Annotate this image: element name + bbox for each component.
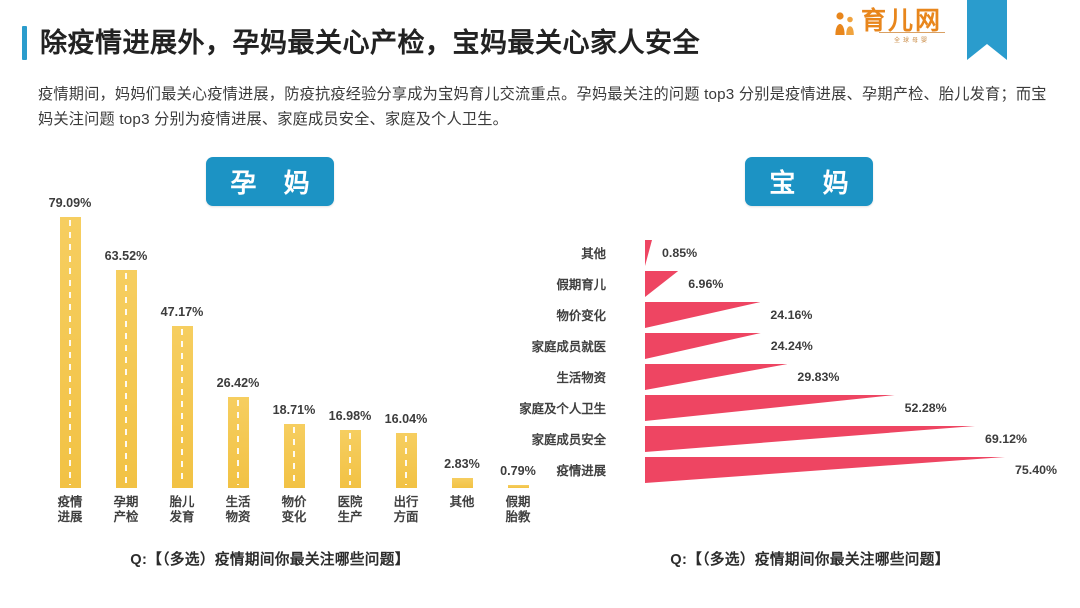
brand-logo: 育儿网 全球母婴	[833, 8, 951, 42]
badge-new-moms: 宝 妈	[745, 157, 873, 206]
column-bar	[116, 270, 137, 488]
column-group: 18.71%物价变化	[266, 424, 322, 488]
column-category-label: 出行方面	[394, 495, 419, 525]
column-value-label: 63.52%	[105, 249, 148, 263]
badge-pregnant-moms: 孕 妈	[206, 157, 334, 206]
column-dash-stripe	[125, 273, 127, 485]
funnel-row: 其他0.85%	[540, 240, 1080, 266]
column-category-label: 医院生产	[338, 495, 363, 525]
column-value-label: 79.09%	[49, 196, 92, 210]
funnel-value-label: 0.85%	[662, 246, 697, 260]
chart-caption-left: Q:【（多选）疫情期间你最关注哪些问题】	[0, 548, 540, 569]
column-category-label: 其他	[450, 495, 475, 510]
chart-caption-right: Q:【（多选）疫情期间你最关注哪些问题】	[540, 548, 1080, 569]
column-value-label: 0.79%	[500, 464, 536, 478]
column-group: 47.17%胎儿发育	[154, 326, 210, 488]
funnel-row: 家庭成员安全69.12%	[540, 426, 1080, 452]
funnel-value-label: 52.28%	[905, 401, 947, 415]
column-value-label: 16.98%	[329, 409, 372, 423]
funnel-category-label: 生活物资	[556, 368, 606, 386]
funnel-category-label: 假期育儿	[556, 275, 606, 293]
funnel-value-label: 6.96%	[688, 277, 723, 291]
ribbon-bookmark-icon	[967, 0, 1007, 60]
column-bar	[228, 397, 249, 488]
column-dash-stripe	[69, 220, 71, 485]
column-value-label: 18.71%	[273, 403, 316, 417]
funnel-row: 疫情进展75.40%	[540, 457, 1080, 483]
funnel-row: 物价变化24.16%	[540, 302, 1080, 328]
column-group: 16.98%医院生产	[322, 430, 378, 488]
column-group: 2.83%其他	[434, 478, 490, 488]
page-subtitle: 疫情期间，妈妈们最关心疫情进展，防疫抗疫经验分享成为宝妈育儿交流重点。孕妈最关注…	[38, 82, 1050, 132]
funnel-value-label: 29.83%	[797, 370, 839, 384]
title-row: 除疫情进展外，孕妈最关心产检，宝妈最关心家人安全	[22, 26, 700, 60]
column-category-label: 物价变化	[282, 495, 307, 525]
chart-new-moms-concerns: 其他0.85%假期育儿6.96%物价变化24.16%家庭成员就医24.24%生活…	[540, 216, 1080, 536]
funnel-bar	[645, 271, 678, 297]
column-bar	[172, 326, 193, 488]
funnel-category-label: 家庭及个人卫生	[519, 399, 606, 417]
funnel-row: 家庭成员就医24.24%	[540, 333, 1080, 359]
funnel-value-label: 24.16%	[770, 308, 812, 322]
column-value-label: 2.83%	[444, 457, 480, 471]
column-value-label: 16.04%	[385, 412, 428, 426]
funnel-row: 家庭及个人卫生52.28%	[540, 395, 1080, 421]
column-bar	[284, 424, 305, 488]
column-dash-stripe	[405, 436, 407, 485]
column-group: 0.79%假期胎教	[490, 485, 546, 488]
funnel-category-label: 其他	[581, 244, 606, 262]
column-group: 26.42%生活物资	[210, 397, 266, 488]
column-dash-stripe	[293, 427, 295, 485]
funnel-bar	[645, 240, 652, 266]
funnel-bar	[645, 457, 1005, 483]
column-category-label: 孕期产检	[114, 495, 139, 525]
funnel-category-label: 物价变化	[556, 306, 606, 324]
column-bar	[452, 478, 473, 488]
column-bar	[396, 433, 417, 488]
funnel-bar	[645, 333, 761, 359]
page-header: 除疫情进展外，孕妈最关心产检，宝妈最关心家人安全 疫情期间，妈妈们最关心疫情进展…	[0, 0, 1080, 150]
logo-subtext: 全球母婴	[879, 32, 945, 44]
parent-child-icon	[833, 10, 859, 36]
funnel-bar	[645, 364, 787, 390]
funnel-bar	[645, 302, 760, 328]
page-title: 除疫情进展外，孕妈最关心产检，宝妈最关心家人安全	[40, 26, 700, 60]
column-group: 16.04%出行方面	[378, 433, 434, 488]
column-bar	[340, 430, 361, 488]
column-category-label: 生活物资	[226, 495, 251, 525]
column-value-label: 47.17%	[161, 305, 204, 319]
funnel-category-label: 家庭成员安全	[532, 430, 606, 448]
funnel-row: 假期育儿6.96%	[540, 271, 1080, 297]
funnel-value-label: 69.12%	[985, 432, 1027, 446]
column-value-label: 26.42%	[217, 376, 260, 390]
funnel-bar	[645, 426, 975, 452]
column-category-label: 胎儿发育	[170, 495, 195, 525]
funnel-value-label: 75.40%	[1015, 463, 1057, 477]
chart-pregnant-moms-concerns: 79.09%疫情进展63.52%孕期产检47.17%胎儿发育26.42%生活物资…	[0, 216, 540, 536]
column-dash-stripe	[237, 400, 239, 485]
column-bar	[508, 485, 529, 488]
funnel-value-label: 24.24%	[771, 339, 813, 353]
column-category-label: 假期胎教	[506, 495, 531, 525]
funnel-category-label: 疫情进展	[556, 461, 606, 479]
column-dash-stripe	[349, 433, 351, 485]
funnel-category-label: 家庭成员就医	[532, 337, 606, 355]
column-dash-stripe	[181, 329, 183, 485]
column-group: 79.09%疫情进展	[42, 217, 98, 488]
funnel-bar	[645, 395, 895, 421]
column-group: 63.52%孕期产检	[98, 270, 154, 488]
title-accent-bar	[22, 26, 27, 60]
column-category-label: 疫情进展	[58, 495, 83, 525]
funnel-row: 生活物资29.83%	[540, 364, 1080, 390]
column-bar	[60, 217, 81, 488]
